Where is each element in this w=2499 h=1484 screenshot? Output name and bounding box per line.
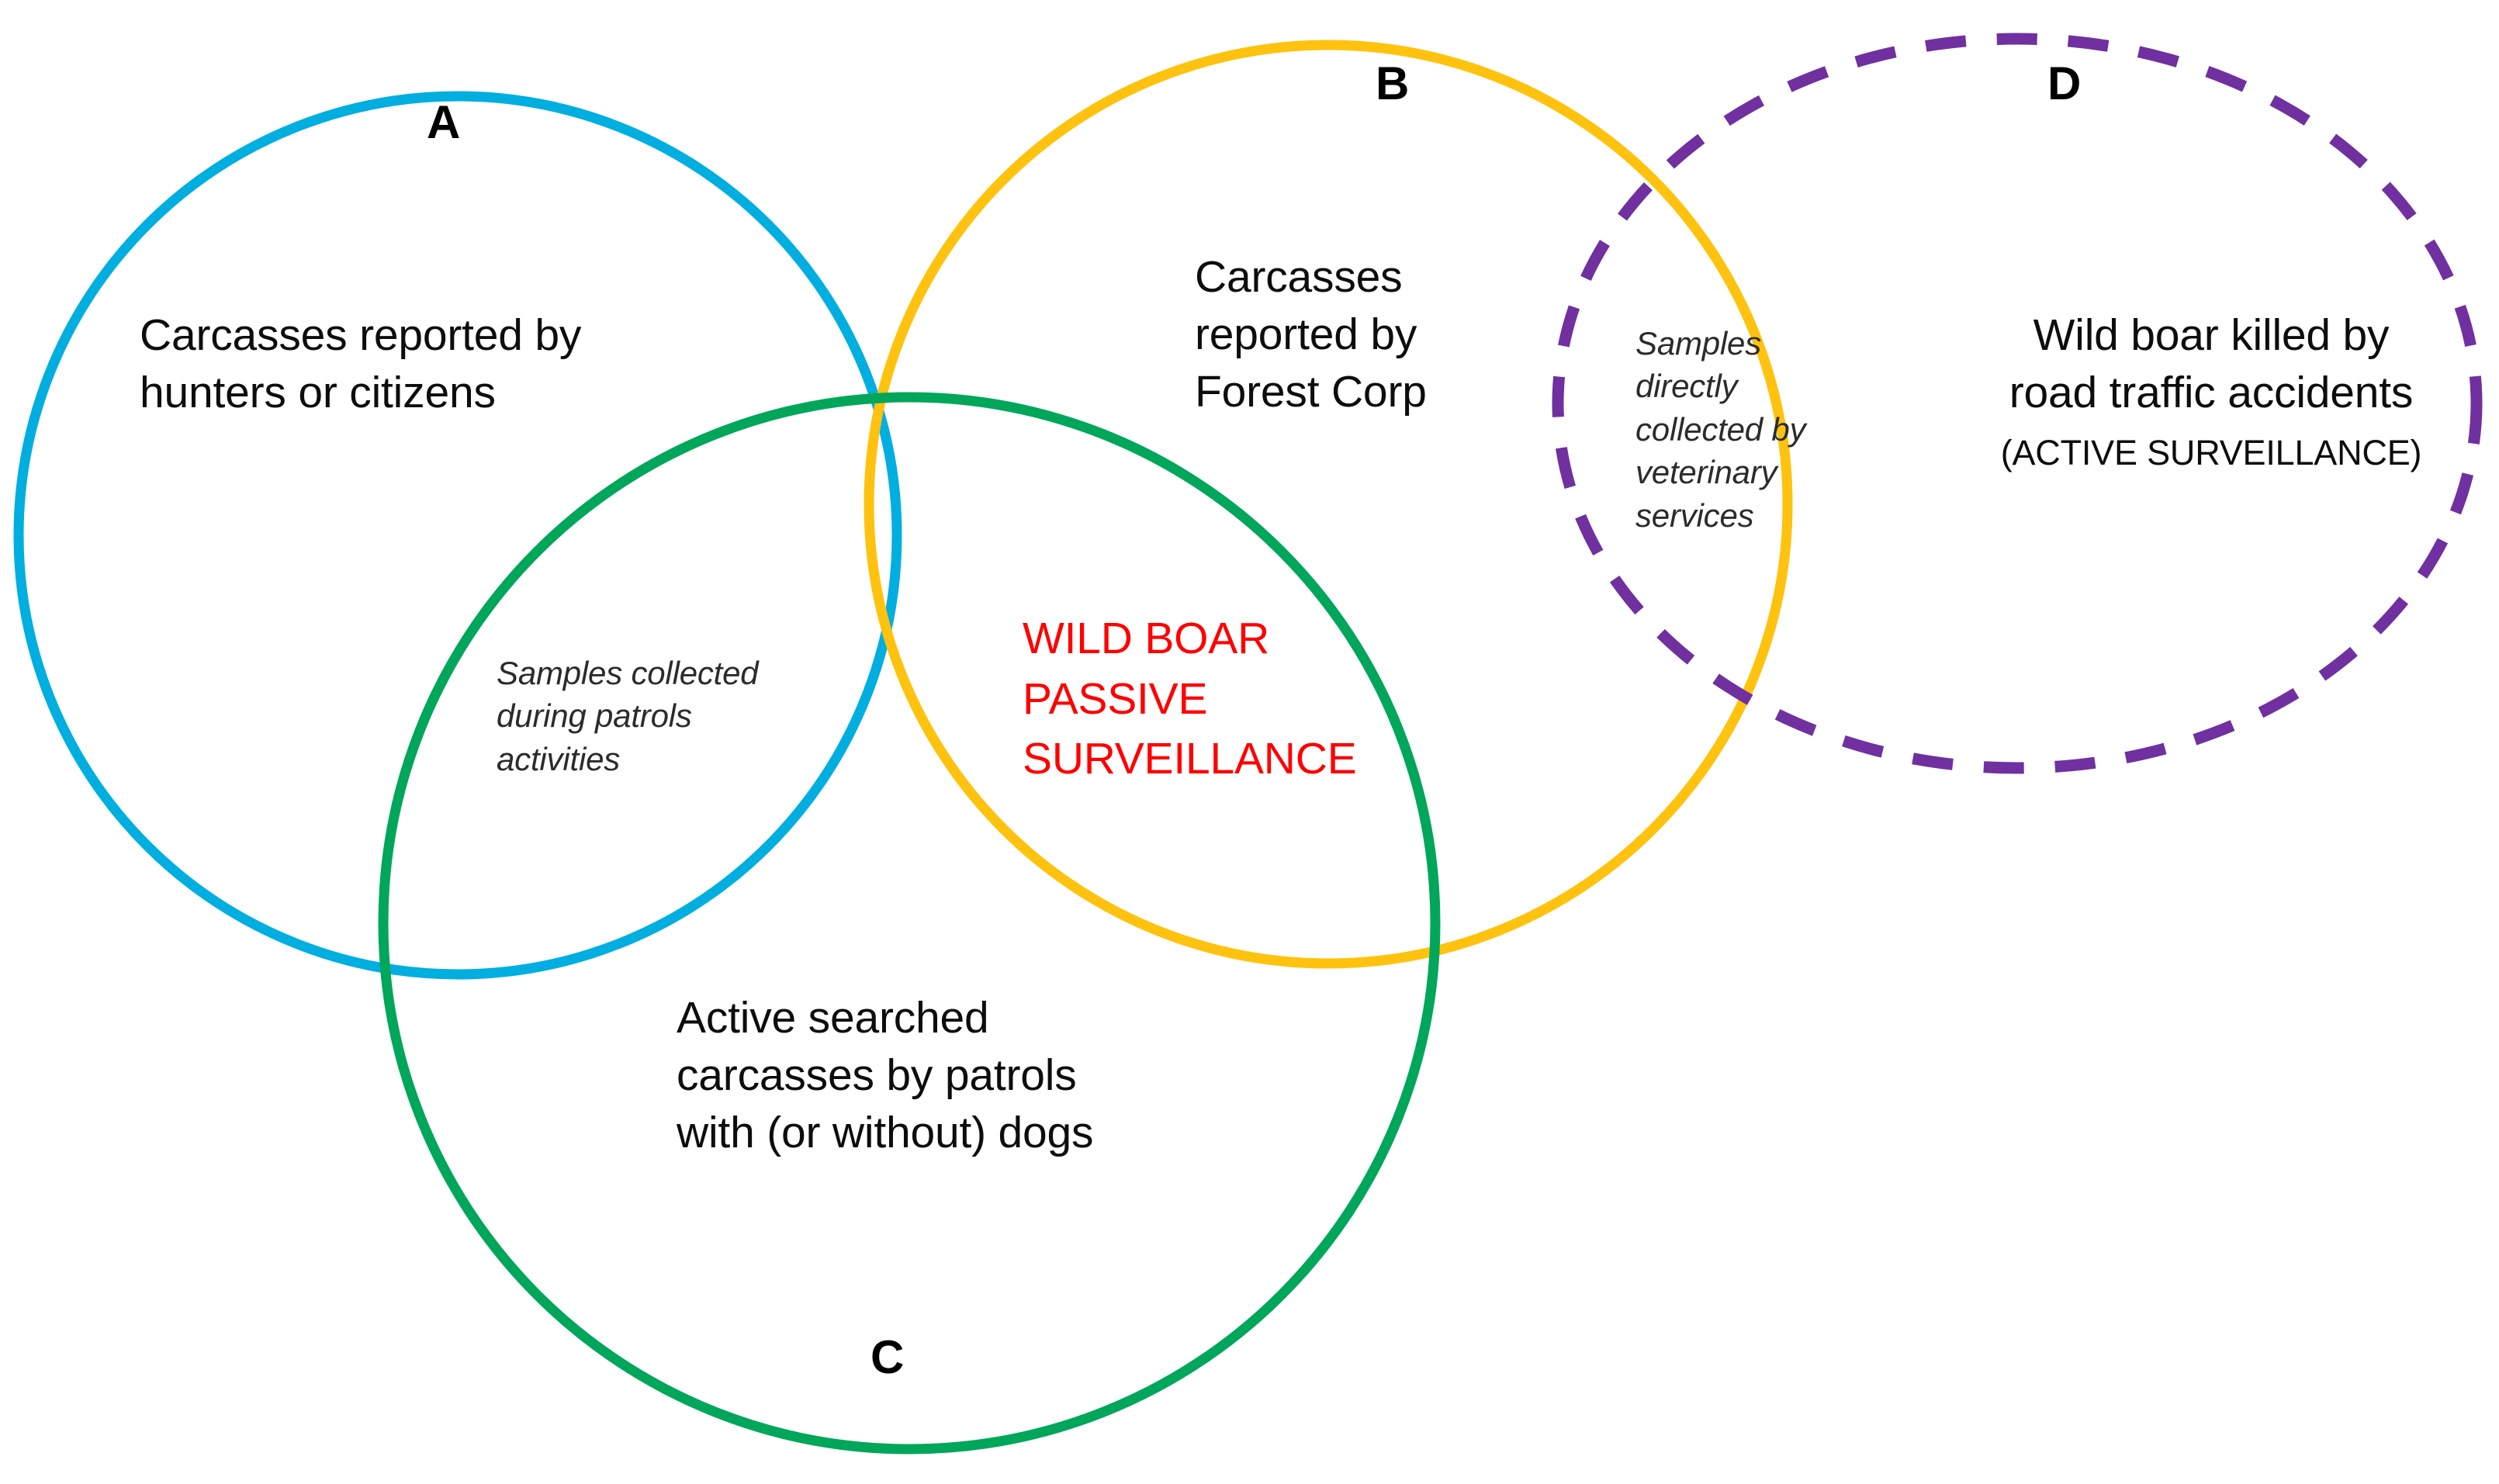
set-label-a: Carcasses reported by hunters or citizen…: [140, 306, 667, 421]
set-label-b: Carcasses reported by Forest Corp: [1195, 248, 1528, 420]
venn-circle-c[interactable]: [383, 397, 1435, 1449]
intersection-label-a-c: Samples collected during patrols activit…: [497, 652, 830, 780]
set-letter-d: D: [2047, 61, 2081, 107]
set-label-c: Active searched carcasses by patrols wit…: [677, 989, 1220, 1161]
set-letter-b: B: [1376, 61, 1409, 107]
set-label-d: Wild boar killed by road traffic acciden…: [1971, 306, 2452, 421]
set-letter-a: A: [427, 99, 460, 146]
venn-diagram-canvas: A B C D Carcasses reported by hunters or…: [0, 0, 2499, 1484]
venn-circle-a[interactable]: [19, 96, 897, 974]
set-letter-c: C: [870, 1334, 904, 1381]
intersection-label-b-d: Samples directly collected by veterinary…: [1635, 322, 1845, 537]
center-label-passive-surveillance: WILD BOAR PASSIVE SURVEILLANCE: [1023, 609, 1426, 790]
set-sublabel-d: (ACTIVE SURVEILLANCE): [1971, 431, 2452, 476]
